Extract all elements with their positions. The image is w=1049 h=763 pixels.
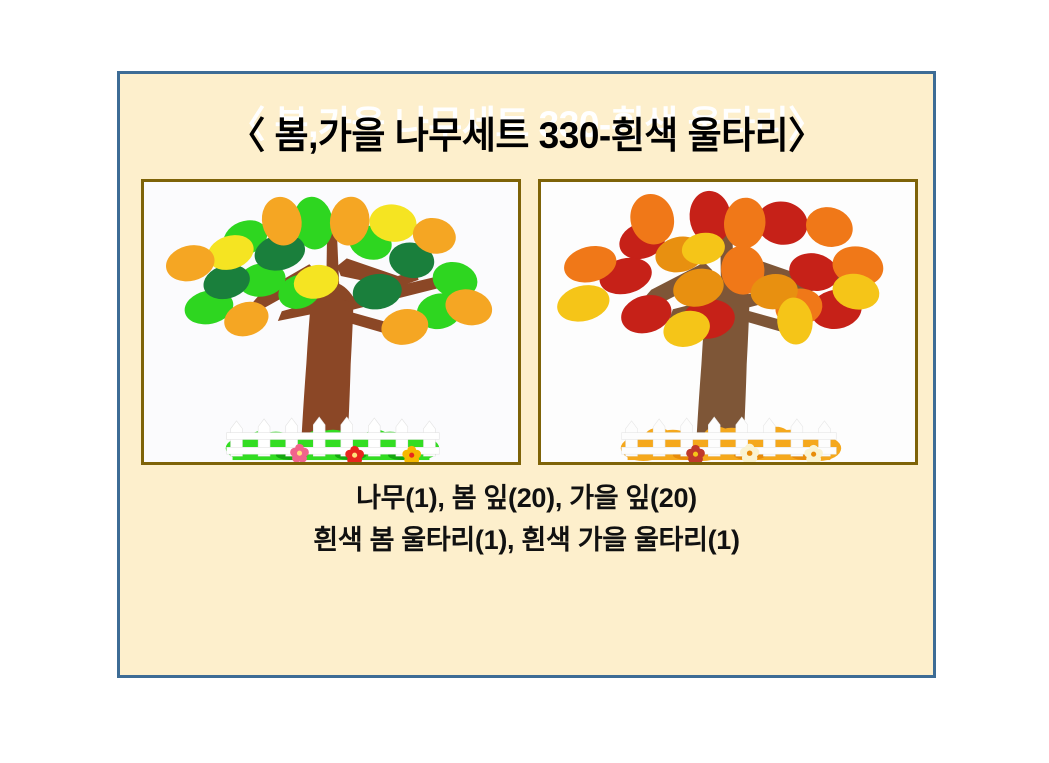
- photo-row: [141, 179, 918, 465]
- caption-line-2: 흰색 봄 울타리(1), 흰색 가을 울타리(1): [120, 520, 933, 562]
- page-title-text: 〈 봄,가을 나무세트 330-흰색 울타리〉: [120, 117, 933, 154]
- spring-tree-photo[interactable]: [141, 179, 521, 465]
- autumn-tree-image: [541, 182, 915, 462]
- autumn-tree-photo[interactable]: [538, 179, 918, 465]
- product-card: 〈 봄,가을 나무세트 330-흰색 울타리〉 〈 봄,가을 나무세트 330-…: [117, 71, 936, 678]
- spring-tree-image: [144, 182, 518, 462]
- page-title: 〈 봄,가을 나무세트 330-흰색 울타리〉 〈 봄,가을 나무세트 330-…: [120, 106, 933, 168]
- caption: 나무(1), 봄 잎(20), 가을 잎(20) 흰색 봄 울타리(1), 흰색…: [120, 478, 933, 562]
- caption-line-1: 나무(1), 봄 잎(20), 가을 잎(20): [120, 478, 933, 520]
